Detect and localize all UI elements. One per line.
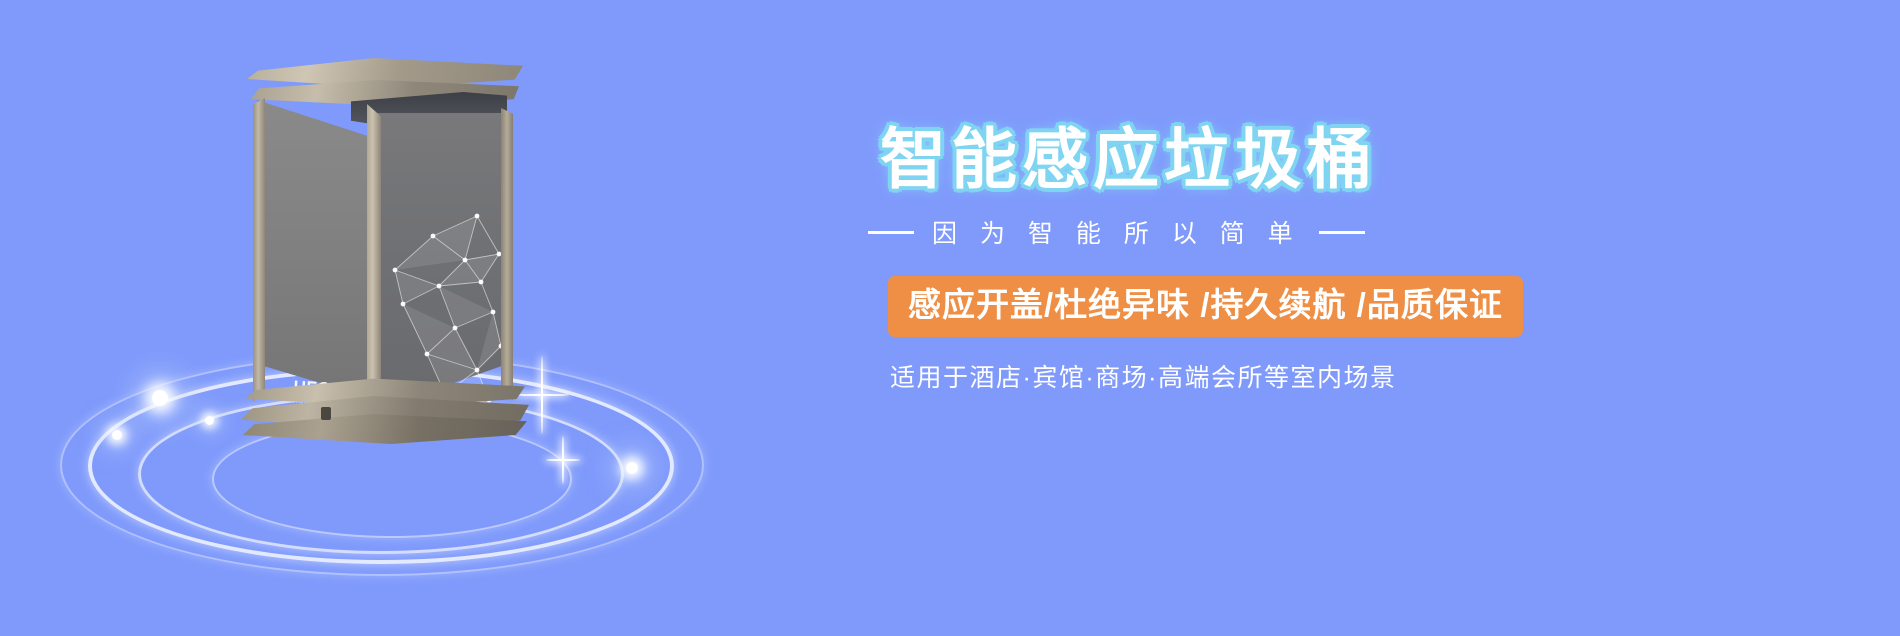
promo-banner: UFO 优霸智能科技 SHENZHEN UFO INTELLIGENT TECH… — [0, 0, 1900, 636]
bin-edge-left — [253, 98, 265, 402]
bin-face-left — [257, 100, 377, 400]
product-scene: UFO 优霸智能科技 SHENZHEN UFO INTELLIGENT TECH… — [0, 0, 760, 636]
headline: 智能感应垃圾桶 — [880, 126, 1580, 192]
bin-base-slot — [321, 407, 331, 420]
glow-dot-2 — [112, 430, 122, 440]
tagline-rule-right — [1319, 231, 1365, 234]
tagline-text: 因 为 智 能 所 以 简 单 — [932, 214, 1301, 250]
glow-dot-4 — [626, 462, 638, 474]
feature-badge: 感应开盖/杜绝异味 /持久续航 /品质保证 — [888, 276, 1523, 337]
usage-scene-text: 适用于酒店·宾馆·商场·高端会所等室内场景 — [890, 358, 1396, 394]
glow-dot-1 — [152, 390, 168, 406]
tagline-rule-left — [868, 231, 914, 234]
copy-block: 智能感应垃圾桶 因 为 智 能 所 以 简 单 感应开盖/杜绝异味 /持久续航 … — [880, 0, 1900, 636]
sparkle-icon-2 — [546, 436, 580, 484]
bin-edge-mid — [367, 104, 381, 412]
network-pattern-svg — [381, 208, 507, 408]
trash-bin-product: UFO 优霸智能科技 SHENZHEN UFO INTELLIGENT TECH… — [255, 58, 515, 428]
bin-edge-right — [501, 108, 513, 400]
network-pattern-graphic — [381, 208, 507, 408]
glow-dot-3 — [205, 416, 214, 425]
tagline: 因 为 智 能 所 以 简 单 — [868, 214, 1365, 250]
